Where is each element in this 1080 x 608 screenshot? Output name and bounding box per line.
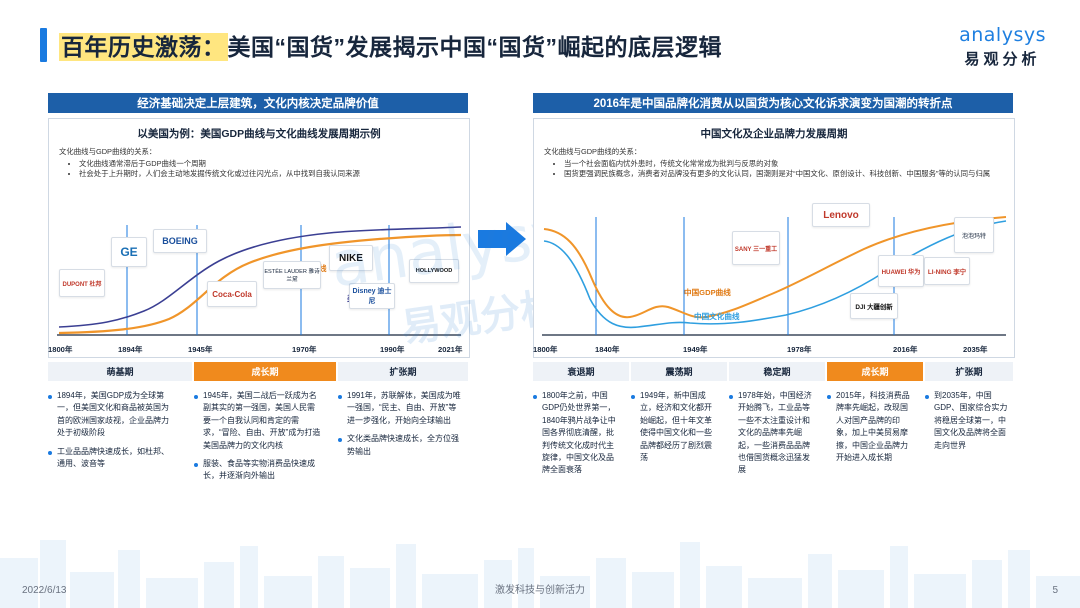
title-rest: 美国“国货”发展揭示中国“国货”崛起的底层逻辑 bbox=[228, 34, 723, 60]
left-col0-item1: 工业品品牌快速成长，如杜邦、通用、波音等 bbox=[48, 446, 176, 471]
footer-slogan: 激发科技与创新活力 bbox=[0, 581, 1080, 596]
brand-chip-lenovo: Lenovo bbox=[812, 203, 870, 227]
left-section-banner: 经济基础决定上层建筑，文化内核决定品牌价值 bbox=[48, 93, 468, 113]
right-year-0: 1800年 bbox=[533, 344, 558, 355]
title-highlight: 百年历史激荡： bbox=[59, 33, 228, 61]
right-culture-curve-label: 中国文化曲线 bbox=[694, 311, 740, 322]
title-accent-bar bbox=[40, 28, 47, 62]
left-note-1: 社会处于上升期时，人们会主动地发掘传统文化或过往闪光点，从中找到自我认同来源 bbox=[79, 169, 459, 180]
right-col4-item0: 到2035年，中国GDP、国家综合实力将稳居全球第一，中国文化及品牌将全面走向世… bbox=[925, 390, 1009, 452]
right-note-0: 当一个社会面临内忧外患时，传统文化常常成为批判与反思的对象 bbox=[564, 159, 1004, 170]
left-phase-2: 扩张期 bbox=[338, 362, 468, 381]
left-col0-item0: 1894年，美国GDP成为全球第一，但美国文化和商品被英国为首的欧洲国家歧视，企… bbox=[48, 390, 176, 440]
right-year-1: 1840年 bbox=[595, 344, 620, 355]
right-column-4: 到2035年，中国GDP、国家综合实力将稳居全球第一，中国文化及品牌将全面走向世… bbox=[925, 390, 1009, 458]
left-year-4: 1990年 bbox=[380, 344, 405, 355]
left-year-1: 1894年 bbox=[118, 344, 143, 355]
right-year-2: 1949年 bbox=[683, 344, 708, 355]
footer-page-number: 5 bbox=[1052, 585, 1058, 596]
logo-subtitle: 易观分析 bbox=[959, 48, 1046, 69]
brand-chip-dupont: DUPONT 杜邦 bbox=[59, 269, 105, 297]
left-panel-title: 以美国为例：美国GDP曲线与文化曲线发展周期示例 bbox=[49, 126, 469, 141]
brand-chip-nike: NIKE bbox=[329, 245, 373, 271]
left-col2-item1: 文化类品牌快速成长，全方位强势输出 bbox=[338, 433, 464, 458]
page-title: 百年历史激荡：美国“国货”发展揭示中国“国货”崛起的底层逻辑 bbox=[40, 28, 722, 62]
left-phase-0: 萌基期 bbox=[48, 362, 192, 381]
right-note-1: 国货更强调民族概念，消费者对品牌没有更多的文化认同，国潮则是对“中国文化、原创设… bbox=[564, 169, 1004, 180]
right-phase-0: 衰退期 bbox=[533, 362, 629, 381]
right-phase-2: 稳定期 bbox=[729, 362, 825, 381]
right-phase-4: 扩张期 bbox=[925, 362, 1013, 381]
right-col2-item0: 1978年始，中国经济开始腾飞，工业品等一些不太注重设计和文化的品牌率先崛起，一… bbox=[729, 390, 817, 477]
right-section-banner: 2016年是中国品牌化消费从以国货为核心文化诉求演变为国潮的转折点 bbox=[533, 93, 1013, 113]
left-year-2: 1945年 bbox=[188, 344, 213, 355]
left-note-head: 文化曲线与GDP曲线的关系： bbox=[59, 147, 459, 158]
transition-arrow-icon bbox=[478, 222, 526, 256]
title-text: 百年历史激荡：美国“国货”发展揭示中国“国货”崛起的底层逻辑 bbox=[59, 28, 722, 62]
right-column-2: 1978年始，中国经济开始腾飞，工业品等一些不太注重设计和文化的品牌率先崛起，一… bbox=[729, 390, 817, 483]
logo-wordmark: analysys bbox=[959, 24, 1046, 46]
left-year-3: 1970年 bbox=[292, 344, 317, 355]
right-column-1: 1949年，新中国成立，经济和文化都开始崛起，但十年文革使得中国文化和一些品牌都… bbox=[631, 390, 719, 470]
right-gdp-curve-label: 中国GDP曲线 bbox=[684, 287, 731, 298]
left-note-0: 文化曲线通常滞后于GDP曲线一个周期 bbox=[79, 159, 459, 170]
left-chart-panel: 以美国为例：美国GDP曲线与文化曲线发展周期示例 文化曲线与GDP曲线的关系： … bbox=[48, 118, 470, 358]
left-column-0: 1894年，美国GDP成为全球第一，但美国文化和商品被英国为首的欧洲国家歧视，企… bbox=[48, 390, 176, 476]
brand-chip-huawei: HUAWEI 华为 bbox=[878, 255, 924, 287]
right-chart-panel: 中国文化及企业品牌力发展周期 文化曲线与GDP曲线的关系： 当一个社会面临内忧外… bbox=[533, 118, 1015, 358]
right-phase-1: 震荡期 bbox=[631, 362, 727, 381]
right-year-4: 2016年 bbox=[893, 344, 918, 355]
right-column-3: 2015年，科技消费品牌率先崛起，改现国人对国产品牌的印象，加上中美贸易摩擦，中… bbox=[827, 390, 915, 470]
brand-chip-ge: GE bbox=[111, 237, 147, 267]
left-col1-item1: 服装、食品等实物消费品快速成长，并逐渐向外输出 bbox=[194, 458, 322, 483]
right-col1-item0: 1949年，新中国成立，经济和文化都开始崛起，但十年文革使得中国文化和一些品牌都… bbox=[631, 390, 719, 464]
right-panel-title: 中国文化及企业品牌力发展周期 bbox=[534, 126, 1014, 141]
brand-chip-dji: DJI 大疆创新 bbox=[850, 293, 898, 319]
left-column-1: 1945年，美国二战后一跃成为名副其实的第一强国，美国人民需要一个自我认同和肯定… bbox=[194, 390, 322, 489]
left-phase-1: 成长期 bbox=[194, 362, 336, 381]
left-curve-chart: 美国文化曲线 美国GDP曲线 bbox=[49, 207, 469, 357]
left-column-2: 1991年，苏联解体，美国成为唯一强国，“民主、自由、开放”等进一步强化，开始向… bbox=[338, 390, 464, 464]
brand-chip-lining: LI-NING 李宁 bbox=[924, 257, 970, 285]
right-note-head: 文化曲线与GDP曲线的关系： bbox=[544, 147, 1004, 158]
left-col2-item0: 1991年，苏联解体，美国成为唯一强国，“民主、自由、开放”等进一步强化，开始向… bbox=[338, 390, 464, 427]
brand-chip-cocacola: Coca-Cola bbox=[207, 281, 257, 307]
brand-chip-disney: Disney 迪士尼 bbox=[349, 283, 395, 309]
left-panel-notes: 文化曲线与GDP曲线的关系： 文化曲线通常滞后于GDP曲线一个周期 社会处于上升… bbox=[59, 147, 459, 180]
slide: 百年历史激荡：美国“国货”发展揭示中国“国货”崛起的底层逻辑 analysys … bbox=[0, 0, 1080, 608]
left-year-5: 2021年 bbox=[438, 344, 463, 355]
analysys-logo: analysys 易观分析 bbox=[959, 24, 1046, 69]
left-year-0: 1800年 bbox=[48, 344, 73, 355]
brand-chip-hollywood: HOLLYWOOD bbox=[409, 259, 459, 283]
brand-chip-popmart: 泡泡玛特 bbox=[954, 217, 994, 253]
right-year-3: 1978年 bbox=[787, 344, 812, 355]
brand-chip-esteelauder: ESTĒE LAUDER 雅诗兰黛 bbox=[263, 261, 321, 289]
brand-chip-sany: SANY 三一重工 bbox=[732, 231, 780, 265]
logo-text: analysys bbox=[959, 24, 1046, 46]
right-phase-3: 成长期 bbox=[827, 362, 923, 381]
brand-chip-boeing: BOEING bbox=[153, 229, 207, 253]
right-col0-item0: 1800年之前，中国GDP仍处世界第一，1840年鸦片战争让中国各界彻底清醒，批… bbox=[533, 390, 621, 477]
right-column-0: 1800年之前，中国GDP仍处世界第一，1840年鸦片战争让中国各界彻底清醒，批… bbox=[533, 390, 621, 483]
right-year-5: 2035年 bbox=[963, 344, 988, 355]
left-col1-item0: 1945年，美国二战后一跃成为名副其实的第一强国，美国人民需要一个自我认同和肯定… bbox=[194, 390, 322, 452]
right-col3-item0: 2015年，科技消费品牌率先崛起，改现国人对国产品牌的印象，加上中美贸易摩擦，中… bbox=[827, 390, 915, 464]
right-panel-notes: 文化曲线与GDP曲线的关系： 当一个社会面临内忧外患时，传统文化常常成为批判与反… bbox=[544, 147, 1004, 180]
